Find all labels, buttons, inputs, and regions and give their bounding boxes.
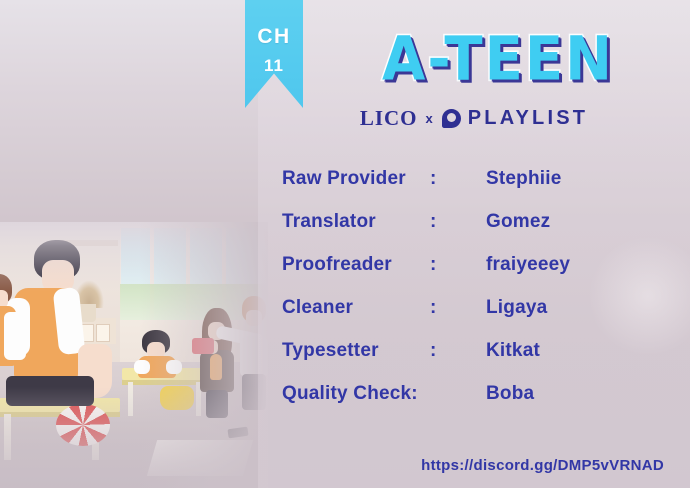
credit-value: Gomez (486, 211, 550, 233)
credit-value: Boba (486, 383, 534, 405)
credit-value: Stephiie (486, 168, 562, 190)
partner-name: PLAYLIST (468, 107, 588, 130)
legs (206, 390, 228, 418)
background-student (0, 274, 24, 384)
arm (4, 312, 26, 360)
credits-list: Raw Provider : Stephiie Translator : Gom… (282, 168, 662, 426)
playlist-play-bubble-icon (442, 109, 461, 128)
credits-page: CH 11 A-TEEN LICO x PLAYLIST Raw Provide… (0, 0, 690, 488)
student-figure (136, 330, 180, 376)
foreground-student (22, 240, 118, 410)
credit-value: fraiyeeey (486, 254, 570, 276)
desk-leg (128, 382, 133, 416)
credit-row: Proofreader : fraiyeeey (282, 254, 662, 297)
arm (134, 360, 150, 374)
credit-label: Translator (282, 211, 430, 233)
credit-colon: : (430, 211, 486, 233)
credit-row: Raw Provider : Stephiie (282, 168, 662, 211)
credit-row: Cleaner : Ligaya (282, 297, 662, 340)
bubble-inner-dot (447, 113, 456, 122)
credit-value: Ligaya (486, 297, 547, 319)
desk-leg (4, 414, 11, 460)
held-book (192, 338, 214, 354)
illustration-scene (0, 222, 268, 488)
brand-separator: x (425, 111, 435, 126)
series-logo: A-TEEN (338, 26, 658, 94)
arm (166, 360, 182, 374)
discord-invite-link[interactable]: https://discord.gg/DMP5vVRNAD (258, 452, 678, 478)
credit-label: Proofreader (282, 254, 430, 276)
shirt (210, 354, 222, 380)
credit-label: Cleaner (282, 297, 430, 319)
brand-line: LICO x PLAYLIST (258, 104, 690, 132)
credit-row: Quality Check: Boba (282, 383, 662, 426)
basketball (56, 404, 110, 446)
credit-colon: : (430, 340, 486, 362)
credit-value: Kitkat (486, 340, 540, 362)
studio-name: LICO (360, 106, 418, 131)
school-bag (160, 386, 194, 410)
chapter-prefix: CH (245, 26, 303, 47)
scattered-paper (147, 440, 253, 476)
credit-label: Typesetter (282, 340, 430, 362)
classroom-illustration (0, 222, 268, 488)
credit-colon: : (430, 297, 486, 319)
credit-label: Quality Check: (282, 383, 486, 405)
credit-label: Raw Provider (282, 168, 430, 190)
credit-row: Translator : Gomez (282, 211, 662, 254)
chapter-number: 11 (245, 57, 303, 74)
credit-colon: : (430, 168, 486, 190)
arm (53, 287, 86, 355)
credit-colon: : (430, 254, 486, 276)
series-title: A-TEEN (382, 30, 614, 90)
credit-row: Typesetter : Kitkat (282, 340, 662, 383)
discord-url-text: https://discord.gg/DMP5vVRNAD (421, 457, 664, 474)
